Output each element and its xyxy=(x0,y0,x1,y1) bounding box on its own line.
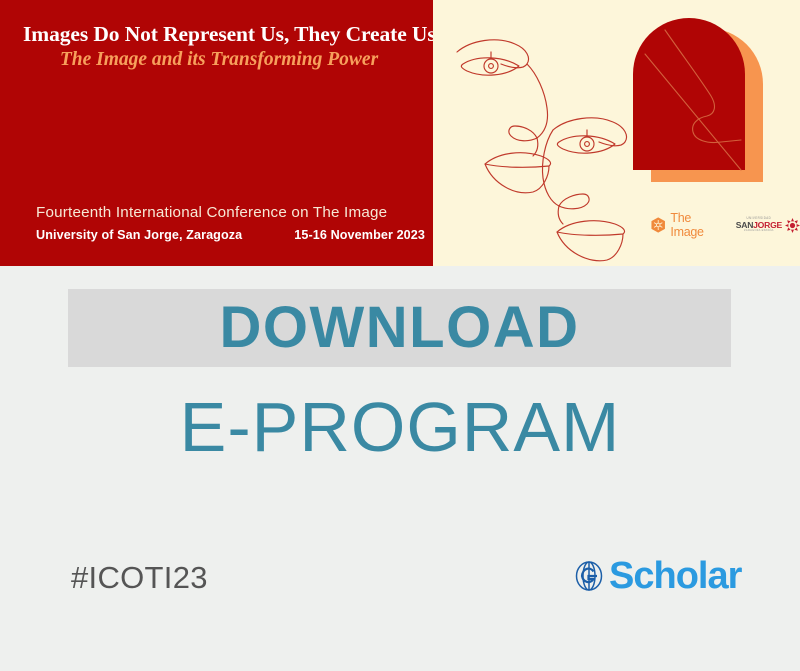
the-image-logo-text: The Image xyxy=(670,211,721,239)
eprogram-label: E-PROGRAM xyxy=(0,392,800,462)
conference-dates: 15-16 November 2023 xyxy=(294,228,425,242)
san-jorge-bottom-text: ZARAGOZA ESPAÑA xyxy=(744,230,774,233)
globe-g-icon xyxy=(571,557,607,595)
the-image-logo: The Image xyxy=(651,211,722,239)
banner-cream-panel: The Image UNIVERSIDAD SANJORGE ZARAGOZA … xyxy=(433,0,800,266)
download-label: DOWNLOAD xyxy=(220,299,580,357)
arch-profile-illustration xyxy=(629,12,789,204)
banner-logos: The Image UNIVERSIDAD SANJORGE ZARAGOZA … xyxy=(651,211,800,239)
conference-banner: Images Do Not Represent Us, They Create … xyxy=(0,0,800,266)
sunburst-icon xyxy=(785,218,800,233)
hexagon-icon xyxy=(651,216,665,234)
banner-headline: Images Do Not Represent Us, They Create … xyxy=(23,23,415,47)
line-art-faces-illustration xyxy=(449,22,659,262)
scholar-logo-text: Scholar xyxy=(609,557,741,595)
event-hashtag: #ICOTI23 xyxy=(71,562,208,593)
banner-red-panel: Images Do Not Represent Us, They Create … xyxy=(0,0,433,266)
san-jorge-top-text: UNIVERSIDAD xyxy=(747,217,772,220)
banner-subheadline: The Image and its Transforming Power xyxy=(23,49,415,71)
san-jorge-wordmark: UNIVERSIDAD SANJORGE ZARAGOZA ESPAÑA xyxy=(736,217,782,232)
san-jorge-university-logo: UNIVERSIDAD SANJORGE ZARAGOZA ESPAÑA xyxy=(736,217,800,232)
conference-name: Fourteenth International Conference on T… xyxy=(36,204,387,221)
scholar-logo[interactable]: Scholar xyxy=(571,557,741,595)
conference-details: University of San Jorge, Zaragoza15-16 N… xyxy=(36,228,406,242)
conference-venue: University of San Jorge, Zaragoza xyxy=(36,228,242,242)
download-highlight-box[interactable]: DOWNLOAD xyxy=(68,289,731,367)
